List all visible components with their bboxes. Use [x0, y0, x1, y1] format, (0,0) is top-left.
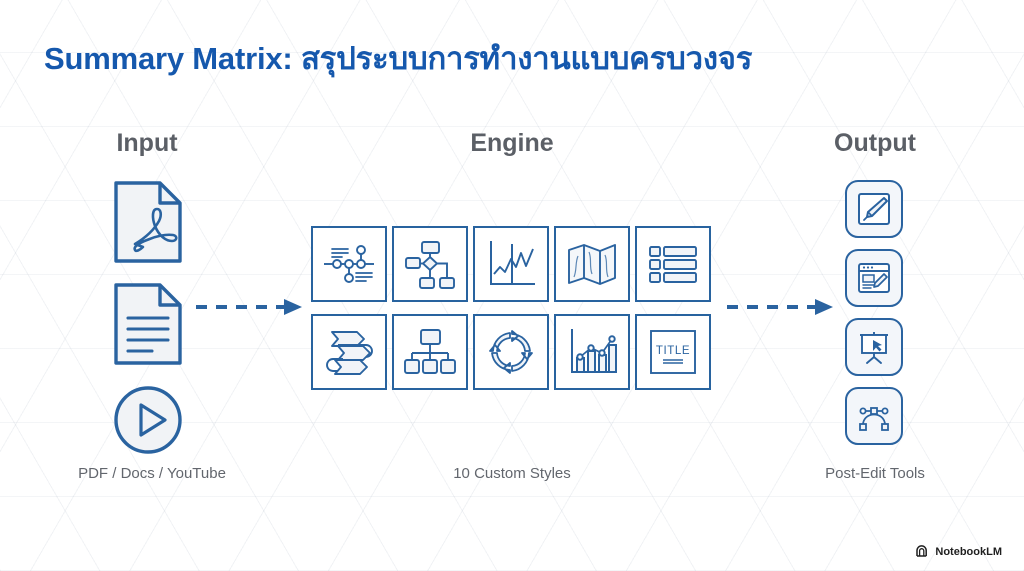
presentation-cursor-icon [853, 326, 895, 368]
bezier-path-icon [853, 395, 895, 437]
style-card-bar-chart[interactable] [554, 314, 630, 390]
process-arrows-icon [321, 324, 377, 380]
column-caption-engine: 10 Custom Styles [412, 465, 612, 482]
engine-style-grid: TITLE [311, 226, 711, 390]
paintbrush-canvas-icon [853, 188, 895, 230]
bar-line-chart-icon [564, 324, 620, 380]
folded-map-icon [564, 236, 620, 292]
output-column [845, 180, 903, 445]
cycle-arrows-icon [483, 324, 539, 380]
pdf-file-icon [112, 180, 184, 264]
line-chart-icon [483, 236, 539, 292]
watermark-label: NotebookLM [935, 546, 1002, 558]
output-tool-present[interactable] [845, 318, 903, 376]
dashed-arrow-input-to-engine [196, 298, 304, 316]
style-card-map[interactable] [554, 226, 630, 302]
slide-canvas: Summary Matrix: สรุประบบการทำงานแบบครบวง… [0, 0, 1024, 571]
style-card-list[interactable] [635, 226, 711, 302]
style-card-hierarchy[interactable] [392, 314, 468, 390]
output-tool-edit-layout[interactable] [845, 249, 903, 307]
style-card-mind-map[interactable] [311, 226, 387, 302]
style-card-title[interactable]: TITLE [635, 314, 711, 390]
column-heading-output: Output [785, 129, 965, 158]
style-card-cycle[interactable] [473, 314, 549, 390]
page-title: Summary Matrix: สรุประบบการทำงานแบบครบวง… [44, 33, 752, 83]
watermark: NotebookLM [915, 545, 1002, 558]
text-document-icon [112, 282, 184, 366]
style-card-line-chart[interactable] [473, 226, 549, 302]
notebooklm-logo-icon [915, 545, 930, 558]
column-caption-output: Post-Edit Tools [785, 465, 965, 482]
title-card-text: TITLE [656, 345, 690, 357]
mind-map-icon [321, 236, 377, 292]
bullet-list-icon [645, 236, 701, 292]
play-circle-icon [112, 384, 184, 456]
style-card-process[interactable] [311, 314, 387, 390]
flowchart-icon [402, 236, 458, 292]
input-column [112, 180, 184, 474]
column-heading-engine: Engine [412, 129, 612, 158]
dashed-arrow-engine-to-output [727, 298, 835, 316]
output-tool-paint[interactable] [845, 180, 903, 238]
org-chart-icon [402, 324, 458, 380]
title-card-icon: TITLE [645, 324, 701, 380]
column-caption-input: PDF / Docs / YouTube [47, 465, 257, 482]
style-card-flowchart[interactable] [392, 226, 468, 302]
column-heading-input: Input [57, 129, 237, 158]
window-edit-icon [853, 257, 895, 299]
output-tool-vector[interactable] [845, 387, 903, 445]
